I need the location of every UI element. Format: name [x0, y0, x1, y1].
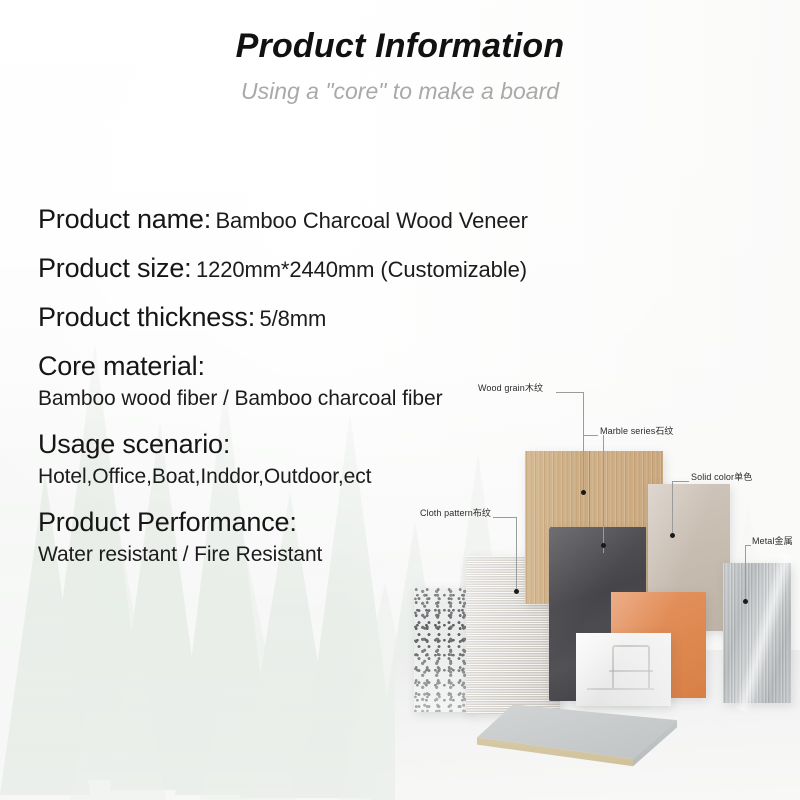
board-face: [477, 700, 677, 772]
callout-label-marble-series: Marble series石纹: [600, 424, 674, 437]
sample-panel-glossy-mirror: [576, 633, 671, 706]
leader-line-wood-grain-v: [583, 392, 584, 492]
leader-line-metal-v: [745, 545, 746, 601]
leader-line-cloth-h: [493, 517, 516, 518]
leader-line-solid-color-h: [672, 481, 689, 482]
leader-line-solid-color-v: [672, 481, 673, 535]
leader-line-marble-h: [583, 435, 598, 436]
leader-line-marble-v: [603, 435, 604, 553]
leader-dot-wood-grain: [581, 490, 586, 495]
callout-label-solid-color: Solid color单色: [691, 470, 752, 483]
leader-line-cloth-v: [516, 517, 517, 591]
callout-label-cloth-pattern: Cloth pattern布纹: [420, 506, 491, 519]
leader-dot-metal: [743, 599, 748, 604]
leader-dot-solid-color: [670, 533, 675, 538]
sample-panels-group: Wood grain木纹 Marble series石纹 Solid color…: [0, 0, 800, 800]
callout-label-metal: Metal金属: [752, 534, 793, 547]
leader-dot-marble-series: [601, 543, 606, 548]
product-information-page: Product Information Using a "core" to ma…: [0, 0, 800, 800]
leader-dot-cloth-pattern: [514, 589, 519, 594]
sample-panel-metal: [723, 563, 791, 703]
callout-label-wood-grain: Wood grain木纹: [478, 381, 543, 394]
leader-line-wood-grain-h: [556, 392, 583, 393]
sample-panel-textured-speckle: [414, 588, 470, 712]
gloss-sheen: [576, 633, 671, 706]
sample-board-flat-lying: [477, 700, 677, 772]
